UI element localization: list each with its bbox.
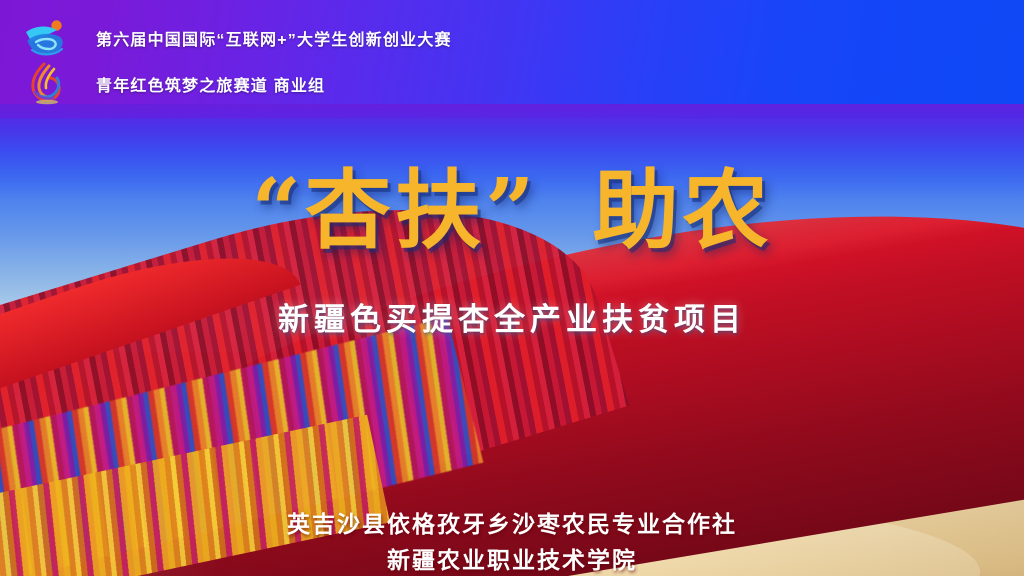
track-group-text: 青年红色筑梦之旅赛道 商业组 bbox=[96, 72, 325, 96]
header-row-track: 青年红色筑梦之旅赛道 商业组 bbox=[24, 62, 325, 106]
title-quote-close: ” bbox=[485, 160, 538, 261]
youth-red-dream-flame-logo bbox=[24, 62, 70, 106]
footer-organization-line-1: 英吉沙县依格孜牙乡沙枣农民专业合作社 bbox=[0, 505, 1024, 539]
title-quote-open: “ bbox=[252, 160, 305, 261]
main-title: “杏扶”助农 bbox=[0, 168, 1024, 254]
footer-organization-line-2: 新疆农业职业技术学院 bbox=[0, 541, 1024, 575]
header-row-competition: 第六届中国国际“互联网+”大学生创新创业大赛 bbox=[24, 16, 452, 60]
presentation-slide: 第六届中国国际“互联网+”大学生创新创业大赛 青年红色筑梦之旅赛道 商业组 “杏… bbox=[0, 0, 1024, 576]
project-subtitle: 新疆色买提杏全产业扶贫项目 bbox=[0, 294, 1024, 339]
competition-swoosh-logo bbox=[24, 16, 70, 60]
competition-title-text: 第六届中国国际“互联网+”大学生创新创业大赛 bbox=[96, 26, 452, 50]
title-word-4: 农 bbox=[682, 160, 772, 261]
title-word-3: 助 bbox=[592, 160, 682, 261]
title-word-1: 杏 bbox=[305, 160, 395, 261]
title-word-2: 扶 bbox=[395, 160, 485, 261]
